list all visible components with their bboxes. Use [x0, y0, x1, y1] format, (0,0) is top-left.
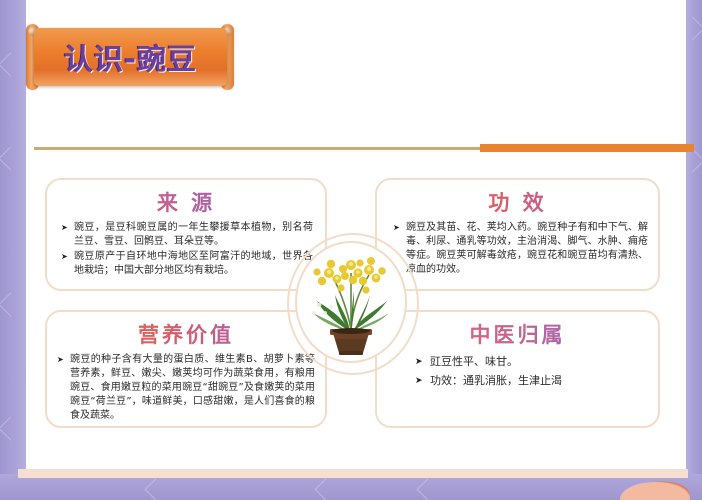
- card-tcm-bullets: 豇豆性平、味甘。 功效：通乳消胀，生津止渴: [377, 353, 658, 390]
- list-item: 豌豆原产于自环地中海地区至阿富汗的地域，世界各地栽培；中国大部分地区均有栽培。: [61, 250, 313, 278]
- list-item: 功效：通乳消胀，生津止渴: [415, 372, 646, 390]
- list-item: 豌豆及其苗、花、荚均入药。豌豆种子有和中下气、解毒、利尿、通乳等功效，主治消渴、…: [393, 221, 648, 277]
- title-banner-body: 认识-豌豆: [34, 28, 227, 86]
- corner-fan-decor-icon: [620, 476, 698, 500]
- card-effect-title: 功 效: [377, 187, 658, 217]
- card-nutrition: 营养价值 豌豆的种子含有大量的蛋白质、维生素B、胡萝卜素等营养素，鲜豆、嫩尖、嫩…: [45, 310, 327, 428]
- card-source-bullets: 豌豆，是豆科豌豆属的一年生攀援草本植物，别名荷兰豆、雪豆、回鹘豆、耳朵豆等。 豌…: [47, 221, 325, 278]
- card-nutrition-bullets: 豌豆的种子含有大量的蛋白质、维生素B、胡萝卜素等营养素，鲜豆、嫩尖、嫩荚均可作为…: [47, 353, 325, 423]
- card-tcm: 中医归属 豇豆性平、味甘。 功效：通乳消胀，生津止渴: [375, 310, 660, 428]
- card-source: 来 源 豌豆，是豆科豌豆属的一年生攀援草本植物，别名荷兰豆、雪豆、回鹘豆、耳朵豆…: [45, 178, 327, 291]
- title-banner: 认识-豌豆: [26, 28, 234, 86]
- card-tcm-title: 中医归属: [377, 319, 658, 349]
- peach-accent-strip: [18, 469, 688, 478]
- card-source-title: 来 源: [47, 187, 325, 217]
- page-title: 认识-豌豆: [64, 36, 197, 78]
- list-item: 豌豆，是豆科豌豆属的一年生攀援草本植物，别名荷兰豆、雪豆、回鹘豆、耳朵豆等。: [61, 221, 313, 249]
- list-item: 豇豆性平、味甘。: [415, 353, 646, 371]
- right-border-strip: [686, 0, 702, 500]
- card-nutrition-title: 营养价值: [47, 319, 325, 349]
- card-effect: 功 效 豌豆及其苗、花、荚均入药。豌豆种子有和中下气、解毒、利尿、通乳等功效，主…: [375, 178, 660, 291]
- potted-orchid-plant: [297, 243, 405, 361]
- slide-canvas: 认识-豌豆 来 源 豌豆，是豆科豌豆属的一年生攀援草本植物，别名荷兰豆、雪豆、回…: [0, 0, 702, 500]
- card-effect-bullets: 豌豆及其苗、花、荚均入药。豌豆种子有和中下气、解毒、利尿、通乳等功效，主治消渴、…: [377, 221, 658, 277]
- divider-line-orange: [480, 144, 694, 152]
- list-item: 豌豆的种子含有大量的蛋白质、维生素B、胡萝卜素等营养素，鲜豆、嫩尖、嫩荚均可作为…: [57, 353, 315, 423]
